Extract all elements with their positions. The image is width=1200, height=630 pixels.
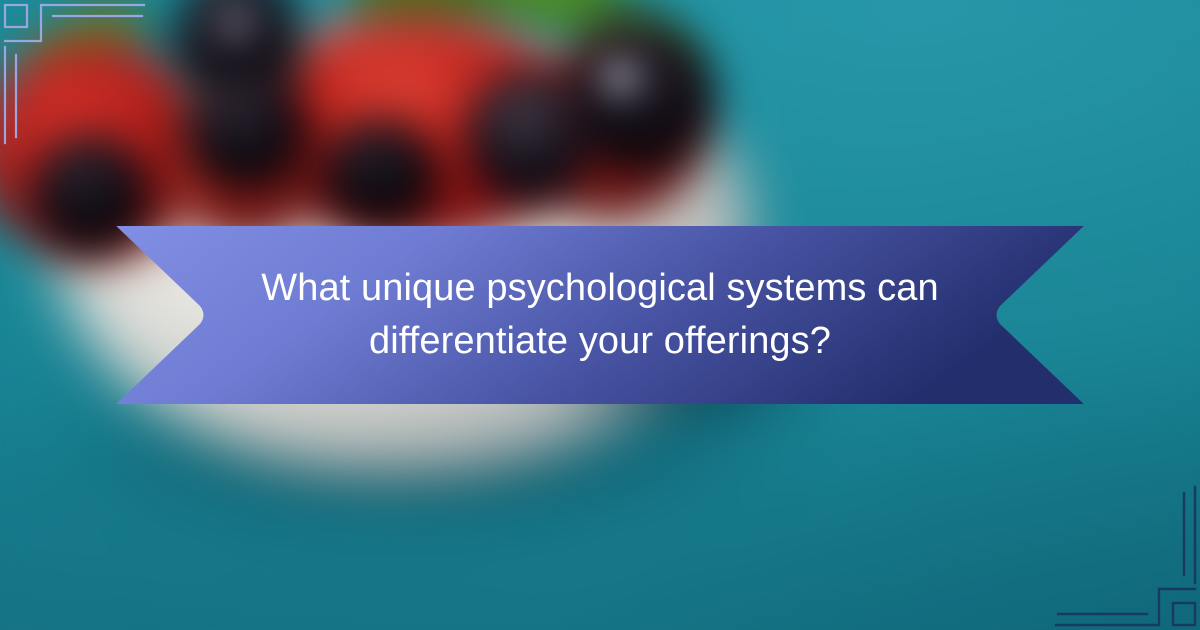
quote-card: What unique psychological systems can di… bbox=[0, 0, 1200, 630]
quote-text-block: What unique psychological systems can di… bbox=[204, 226, 996, 404]
quote-line-2: differentiate your offerings? bbox=[369, 315, 831, 368]
quote-banner: What unique psychological systems can di… bbox=[104, 226, 1096, 404]
quote-line-1: What unique psychological systems can bbox=[261, 262, 938, 315]
